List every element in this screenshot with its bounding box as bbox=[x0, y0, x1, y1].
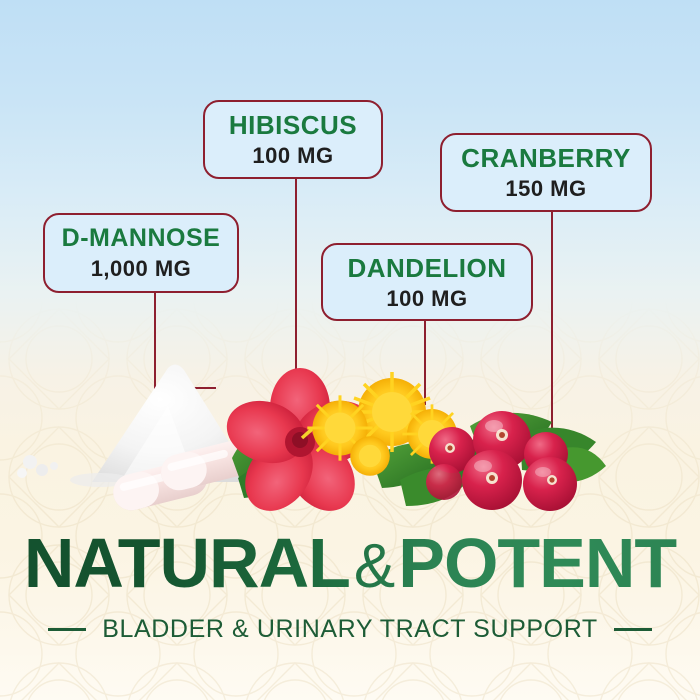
headline-ampersand: & bbox=[350, 532, 398, 601]
callout-d-mannose-dose: 1,000 MG bbox=[91, 258, 192, 280]
callout-cranberry-dose: 150 MG bbox=[505, 178, 586, 200]
headline: NATURAL&POTENT bbox=[0, 528, 700, 599]
product-imagery bbox=[0, 330, 700, 530]
headline-word-two: POTENT bbox=[398, 524, 676, 602]
callout-d-mannose[interactable]: D-MANNOSE 1,000 MG bbox=[43, 213, 239, 293]
headline-word-one: NATURAL bbox=[24, 524, 350, 602]
supplement-infographic: D-MANNOSE 1,000 MG HIBISCUS 100 MG CRANB… bbox=[0, 0, 700, 700]
rule-left-icon bbox=[48, 628, 86, 631]
callout-hibiscus-dose: 100 MG bbox=[252, 145, 333, 167]
rule-right-icon bbox=[614, 628, 652, 631]
callout-hibiscus-name: HIBISCUS bbox=[229, 112, 357, 138]
callout-d-mannose-name: D-MANNOSE bbox=[62, 226, 221, 251]
subtitle-row: BLADDER & URINARY TRACT SUPPORT bbox=[0, 615, 700, 644]
callout-dandelion-dose: 100 MG bbox=[386, 288, 467, 310]
callout-dandelion[interactable]: DANDELION 100 MG bbox=[321, 243, 533, 321]
callout-dandelion-name: DANDELION bbox=[347, 255, 506, 281]
callout-cranberry[interactable]: CRANBERRY 150 MG bbox=[440, 133, 652, 212]
subtitle: BLADDER & URINARY TRACT SUPPORT bbox=[102, 615, 598, 644]
headline-block: NATURAL&POTENT BLADDER & URINARY TRACT S… bbox=[0, 528, 700, 644]
callout-hibiscus[interactable]: HIBISCUS 100 MG bbox=[203, 100, 383, 179]
callout-cranberry-name: CRANBERRY bbox=[461, 145, 631, 171]
